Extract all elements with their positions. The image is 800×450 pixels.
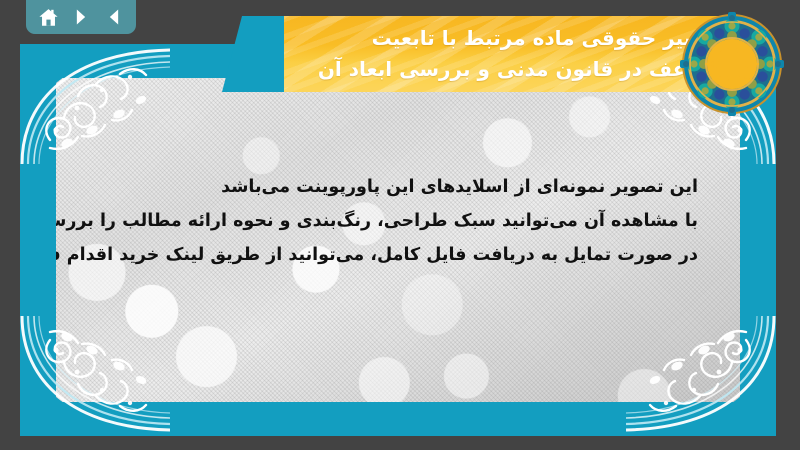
triangle-right-icon [71, 7, 91, 27]
title-line-1: تفسیر حقوقی ماده مرتبط با تابعیت [372, 23, 726, 54]
slide-screenshot: این تصویر نمونه‌ای از اسلایدهای این پاور… [0, 0, 800, 450]
slide-content-area: این تصویر نمونه‌ای از اسلایدهای این پاور… [56, 78, 740, 402]
triangle-left-icon [104, 7, 124, 27]
title-banner: تفسیر حقوقی ماده مرتبط با تابعیت مضاعف د… [222, 16, 734, 92]
slide-title: تفسیر حقوقی ماده مرتبط با تابعیت مضاعف د… [284, 16, 734, 92]
title-line-2: مضاعف در قانون مدنی و بررسی ابعاد آن [318, 54, 726, 85]
forward-button[interactable] [69, 5, 93, 29]
body-line-2: با مشاهده آن می‌توانید سبک طراحی، رنگ‌بن… [98, 204, 698, 238]
home-icon [38, 7, 59, 28]
body-line-1: این تصویر نمونه‌ای از اسلایدهای این پاور… [98, 170, 698, 204]
slide-body-text: این تصویر نمونه‌ای از اسلایدهای این پاور… [56, 170, 740, 272]
back-button[interactable] [102, 5, 126, 29]
title-banner-orange-block: تفسیر حقوقی ماده مرتبط با تابعیت مضاعف د… [284, 16, 734, 92]
body-line-3: در صورت تمایل به دریافت فایل کامل، می‌تو… [98, 238, 698, 272]
home-button[interactable] [36, 5, 60, 29]
islamic-medallion-ornament [680, 12, 784, 116]
navigation-bar [26, 0, 136, 34]
slide-frame: این تصویر نمونه‌ای از اسلایدهای این پاور… [20, 44, 776, 436]
